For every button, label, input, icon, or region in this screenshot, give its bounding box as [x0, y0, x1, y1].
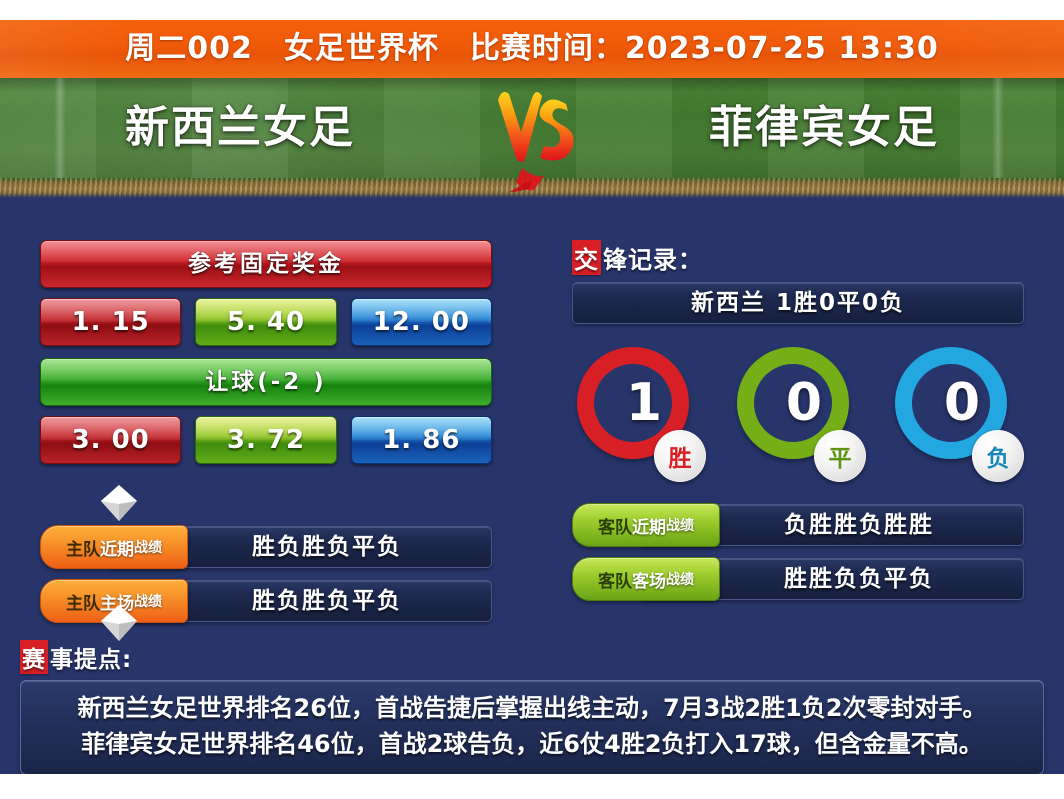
tab-part-c: 战绩 [666, 569, 694, 589]
bottom-white-margin [0, 774, 1064, 799]
away-team-name: 菲律宾女足 [584, 96, 1064, 160]
fixed-odds-draw-value: 5. 40 [196, 299, 335, 345]
handicap-title: 让球(-2 ) [41, 359, 491, 405]
handicap-odds-draw-value: 3. 72 [196, 417, 335, 463]
tab-part-a: 客队 [598, 513, 632, 538]
h2h-loss-badge: 负 [972, 430, 1024, 482]
away-form-group: 负胜胜负胜胜 客队 近期 战绩 胜胜负负平负 客队 客场 战绩 [572, 504, 1024, 598]
fixed-odds-home-button[interactable]: 1. 15 [40, 298, 181, 346]
fixed-odds-banner: 参考固定奖金 [40, 240, 492, 288]
handicap-odds-home-value: 3. 00 [41, 417, 180, 463]
h2h-label-highlight: 交 [572, 240, 601, 275]
odds-column: 参考固定奖金 1. 15 5. 40 12. 00 让球(-2 ) [40, 240, 492, 634]
diamond-gem-icon [98, 602, 140, 644]
h2h-draw-badge: 平 [814, 430, 866, 482]
match-notes-section: 赛事提点: 新西兰女足世界排名26位，首战告捷后掌握出线主动，7月3战2胜1负2… [20, 640, 1044, 775]
match-notes-line-away: 菲律宾女足世界排名46位，首战2球告负，近6仗4胜2负打入17球，但含金量不高。 [33, 726, 1031, 762]
head-to-head-rings: 1 胜 0 平 0 负 [572, 342, 1024, 492]
tab-part-b: 客场 [632, 567, 666, 592]
fixed-odds-home-value: 1. 15 [41, 299, 180, 345]
fixed-odds-draw-button[interactable]: 5. 40 [195, 298, 336, 346]
tab-part-a: 主队 [66, 535, 100, 560]
tab-part-a: 主队 [66, 589, 100, 614]
away-recent-form-row: 负胜胜负胜胜 客队 近期 战绩 [572, 504, 1024, 544]
diamond-gem-icon [98, 482, 140, 524]
fixed-odds-title: 参考固定奖金 [41, 241, 491, 287]
tab-part-b: 近期 [100, 535, 134, 560]
away-venue-form-row: 胜胜负负平负 客队 客场 战绩 [572, 558, 1024, 598]
handicap-odds-away-button[interactable]: 1. 86 [351, 416, 492, 464]
h2h-win-badge: 胜 [654, 430, 706, 482]
fixed-odds-away-value: 12. 00 [352, 299, 491, 345]
home-recent-form-tab[interactable]: 主队 近期 战绩 [40, 525, 188, 569]
fixed-odds-away-button[interactable]: 12. 00 [351, 298, 492, 346]
head-to-head-summary: 新西兰 1胜0平0负 [573, 283, 1023, 323]
match-notes-box: 新西兰女足世界排名26位，首战告捷后掌握出线主动，7月3战2胜1负2次零封对手。… [20, 680, 1044, 775]
tab-part-c: 战绩 [134, 537, 162, 557]
notes-label-rest: 事提点: [50, 647, 132, 673]
fixed-odds-row: 1. 15 5. 40 12. 00 [40, 298, 492, 346]
top-white-margin [0, 0, 1064, 20]
home-team-name: 新西兰女足 [0, 96, 480, 160]
handicap-odds-home-button[interactable]: 3. 00 [40, 416, 181, 464]
h2h-ring-loss: 0 负 [890, 342, 1020, 478]
handicap-odds-row: 3. 00 3. 72 1. 86 [40, 416, 492, 464]
h2h-ring-win: 1 胜 [572, 342, 702, 478]
handicap-odds-away-value: 1. 86 [352, 417, 491, 463]
notes-label-highlight: 赛 [20, 640, 48, 674]
tab-part-a: 客队 [598, 567, 632, 592]
match-notes-line-home: 新西兰女足世界排名26位，首战告捷后掌握出线主动，7月3战2胜1负2次零封对手。 [33, 690, 1031, 726]
h2h-label-rest: 锋记录： [603, 246, 703, 274]
head-to-head-column: 交锋记录： 新西兰 1胜0平0负 1 胜 0 平 0 负 [572, 240, 1024, 612]
tab-part-b: 近期 [632, 513, 666, 538]
tab-part-c: 战绩 [666, 515, 694, 535]
away-recent-form-tab[interactable]: 客队 近期 战绩 [572, 503, 720, 547]
away-venue-form-tab[interactable]: 客队 客场 战绩 [572, 557, 720, 601]
head-to-head-summary-bar: 新西兰 1胜0平0负 [572, 282, 1024, 324]
home-recent-form-row: 胜负胜负平负 主队 近期 战绩 [40, 526, 492, 566]
match-notes-label: 赛事提点: [20, 640, 1044, 672]
handicap-banner: 让球(-2 ) [40, 358, 492, 406]
versus-icon [482, 82, 586, 194]
h2h-ring-draw: 0 平 [732, 342, 862, 478]
match-preview-canvas: 周二002 女足世界杯 比赛时间：2023-07-25 13:30 新西兰女足 … [0, 0, 1064, 799]
match-header-title: 周二002 女足世界杯 比赛时间：2023-07-25 13:30 [0, 20, 1064, 78]
match-header-bar: 周二002 女足世界杯 比赛时间：2023-07-25 13:30 [0, 20, 1064, 78]
handicap-odds-draw-button[interactable]: 3. 72 [195, 416, 336, 464]
head-to-head-label: 交锋记录： [572, 240, 1024, 274]
